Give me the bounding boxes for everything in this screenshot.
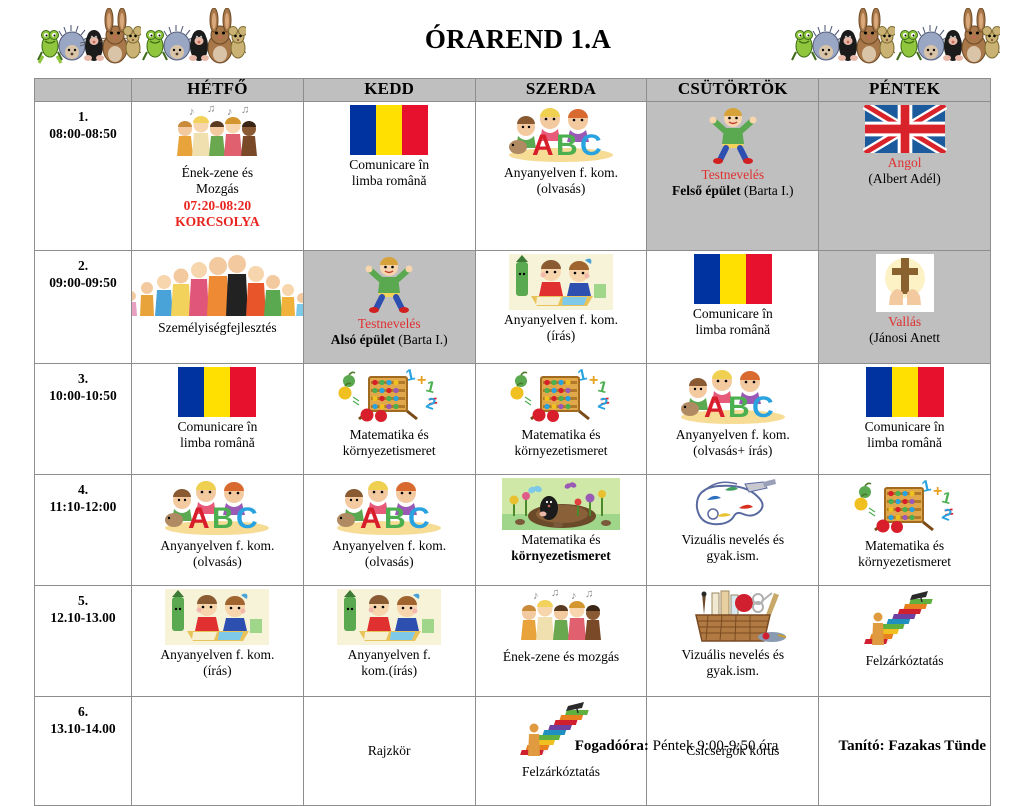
lesson-cell-monday-4[interactable]: A B C Anyanyelven f. kom.(olvasás): [132, 475, 304, 586]
lesson-label-line: Comunicare în: [349, 157, 429, 173]
lesson-illustration: [674, 589, 792, 645]
lesson-label-line: limba română: [693, 322, 773, 338]
lesson-label-line: Anyanyelven f. kom.: [160, 538, 274, 554]
lesson-cell-tuesday-4[interactable]: A B C Anyanyelven f. kom.(olvasás): [303, 475, 475, 586]
lesson-illustration: [178, 367, 256, 417]
lesson-illustration: [876, 254, 934, 312]
lesson-label-line: (Albert Adél): [868, 171, 940, 187]
children-writing-icon: [509, 254, 613, 310]
lesson-cell-content: A B C Anyanyelven f. kom.(olvasás): [132, 475, 303, 585]
animal-border-clipart-left: [36, 8, 246, 70]
lesson-label-line: (Jánosi Anett: [869, 330, 940, 346]
lesson-cell-content: Anyanyelven f. kom.(írás): [132, 586, 303, 696]
lesson-label: Vizuális nevelés ésgyak.ism.: [681, 647, 784, 680]
lesson-label-line: környezetismeret: [511, 548, 610, 564]
svg-text:B: B: [728, 391, 750, 424]
lesson-label-line: (írás): [160, 663, 274, 679]
children-writing-icon: [337, 589, 441, 645]
lesson-illustration: [863, 105, 947, 153]
lesson-cell-friday-5[interactable]: Felzárkóztatás: [819, 586, 991, 697]
lesson-cell-tuesday-1[interactable]: Comunicare înlimba română: [303, 102, 475, 251]
lesson-label-line: Angol: [868, 155, 940, 171]
lesson-illustration: [862, 589, 948, 651]
lesson-cell-monday-1[interactable]: ♪♫♪♫: [132, 102, 304, 251]
day-header-wednesday: SZERDA: [475, 79, 647, 102]
lesson-illustration: [132, 254, 304, 318]
office-hours-label: Fogadóóra:: [575, 738, 649, 754]
lesson-label: Anyanyelven f. kom.(olvasás): [160, 538, 274, 571]
svg-text:B: B: [212, 502, 234, 535]
lesson-cell-content: TestnevelésAlsó épület (Barta I.): [304, 251, 475, 363]
timetable-row-2: 2.09:00-09:50 Személyiségfejlesztés: [35, 251, 991, 364]
period-number: 2.: [78, 258, 88, 273]
office-hours: Fogadóóra: Péntek 9:00-9:50 óra: [575, 738, 779, 755]
cross-hands-icon: [876, 254, 934, 312]
lesson-label-line: Vizuális nevelés és: [681, 647, 784, 663]
page-header: ÓRAREND 1.A: [0, 0, 1024, 78]
lesson-label: Felzárkóztatás: [522, 764, 600, 780]
period-time: 10:00-10:50: [49, 388, 117, 403]
lesson-illustration: ♪♫♪♫: [513, 589, 609, 647]
lesson-cell-content: TestnevelésFelső épület (Barta I.): [647, 102, 818, 250]
uk-flag-icon: [863, 105, 947, 153]
period-time: 09:00-09:50: [49, 275, 117, 290]
lesson-label-line: Felzárkóztatás: [522, 764, 600, 780]
lesson-cell-friday-1[interactable]: Angol(Albert Adél): [819, 102, 991, 251]
lesson-cell-wednesday-2[interactable]: Anyanyelven f. kom.(írás): [475, 251, 647, 364]
lesson-label-line: Felzárkóztatás: [866, 653, 944, 669]
lesson-label-line: gyak.ism.: [681, 663, 784, 679]
lesson-label: TestnevelésFelső épület (Barta I.): [672, 167, 793, 200]
svg-text:A: A: [532, 129, 554, 162]
lesson-label: Comunicare înlimba română: [865, 419, 945, 452]
lesson-illustration: [866, 367, 944, 417]
lesson-label-line: Anyanyelven f. kom.: [160, 647, 274, 663]
lesson-cell-wednesday-1[interactable]: A B C Anyanyelven f. kom.(olvasás): [475, 102, 647, 251]
lesson-label-line: Ének-zene és: [175, 165, 260, 181]
lesson-cell-content: Angol(Albert Adél): [819, 102, 990, 250]
romania-flag-icon: [866, 367, 944, 417]
timetable-row-3: 3.10:00-10:50 Comunicare înlimba română …: [35, 364, 991, 475]
lesson-cell-friday-3[interactable]: Comunicare înlimba română: [819, 364, 991, 475]
jumping-child-icon: [358, 254, 420, 314]
day-header-friday: PÉNTEK: [819, 79, 991, 102]
lesson-label: Anyanyelven f. kom.(írás): [160, 647, 274, 680]
lesson-label-line: (olvasás): [332, 554, 446, 570]
lesson-illustration: [694, 254, 772, 304]
lesson-label-line: Matematika és: [511, 532, 610, 548]
period-time: 08:00-08:50: [49, 126, 117, 141]
romania-flag-icon: [178, 367, 256, 417]
period-time-cell-5: 5.12.10-13.00: [35, 586, 132, 697]
lesson-illustration: [165, 589, 269, 645]
lesson-teacher: (Barta I.): [741, 183, 794, 198]
lesson-label-line: 07:20-08:20: [175, 198, 260, 214]
svg-text:♫: ♫: [585, 589, 593, 600]
lesson-label: Anyanyelven f.kom.(írás): [348, 647, 431, 680]
family-group-icon: [132, 254, 304, 318]
lesson-cell-content: Személyiségfejlesztés: [132, 251, 303, 363]
singing-children-icon: ♪♫♪♫: [513, 589, 609, 647]
lesson-illustration: 1 + 1 = 2: [509, 367, 613, 425]
lesson-cell-tuesday-5[interactable]: Anyanyelven f.kom.(írás): [303, 586, 475, 697]
lesson-cell-content: Comunicare înlimba română: [647, 251, 818, 363]
lesson-cell-thursday-3[interactable]: A B C Anyanyelven f. kom.(olvasás+ írás): [647, 364, 819, 475]
lesson-label: Ének-zene ésMozgás07:20-08:20KORCSOLYA: [175, 165, 260, 231]
svg-text:♪: ♪: [227, 106, 233, 118]
period-number: 1.: [78, 109, 88, 124]
singing-children-icon: ♪♫♪♫: [169, 105, 265, 163]
lesson-cell-content: Comunicare înlimba română: [819, 364, 990, 474]
lesson-label: Matematika éskörnyezetismeret: [511, 532, 610, 565]
lesson-illustration: [358, 254, 420, 314]
lesson-label-line: KORCSOLYA: [175, 214, 260, 230]
lesson-label: Anyanyelven f. kom.(olvasás): [332, 538, 446, 571]
period-time: 13.10-14.00: [50, 721, 115, 736]
svg-text:C: C: [752, 391, 774, 424]
lesson-label-line: Matematika és: [343, 427, 436, 443]
svg-text:+: +: [589, 372, 598, 389]
lesson-cell-content: Felzárkóztatás: [819, 586, 990, 696]
lesson-building: Felső épület: [672, 183, 741, 198]
lesson-label: Matematika éskörnyezetismeret: [343, 427, 436, 460]
svg-text:C: C: [236, 502, 258, 535]
lesson-cell-tuesday-3[interactable]: 1 + 1 = 2: [303, 364, 475, 475]
lesson-label: Angol(Albert Adél): [868, 155, 940, 188]
lesson-label: Anyanyelven f. kom.(olvasás): [504, 165, 618, 198]
period-time-cell-3: 3.10:00-10:50: [35, 364, 132, 475]
animal-group-icon: [895, 8, 1000, 70]
lesson-illustration: [502, 478, 620, 530]
lesson-label-line: környezetismeret: [858, 554, 951, 570]
animal-group-icon: [141, 8, 246, 70]
period-time-cell-2: 2.09:00-09:50: [35, 251, 132, 364]
lesson-label-line: Comunicare în: [177, 419, 257, 435]
timetable-page: ÓRAREND 1.A: [0, 0, 1024, 791]
lesson-teacher: (Barta I.): [395, 332, 448, 347]
lesson-cell-content: Vizuális nevelés ésgyak.ism.: [647, 475, 818, 585]
svg-text:♫: ♫: [551, 589, 559, 599]
lesson-label-line: Anyanyelven f. kom.: [504, 312, 618, 328]
lesson-illustration: [337, 589, 441, 645]
lesson-label-line: környezetismeret: [515, 443, 608, 459]
lesson-label: Comunicare înlimba română: [693, 306, 773, 339]
page-title: ÓRAREND 1.A: [425, 24, 611, 55]
svg-text:A: A: [188, 502, 210, 535]
lesson-label-line: (olvasás+ írás): [676, 443, 790, 459]
teacher-name: Tanító: Fazakas Tünde: [838, 738, 986, 755]
abacus-icon: 1 + 1 = 2: [337, 367, 441, 425]
lesson-label-line: Testnevelés: [672, 167, 793, 183]
lesson-cell-friday-4[interactable]: 1 + 1 = 2: [819, 475, 991, 586]
abc-children-icon: A B C: [330, 478, 448, 536]
svg-text:♪: ♪: [189, 106, 195, 118]
lesson-cell-thursday-2[interactable]: Comunicare înlimba română: [647, 251, 819, 364]
svg-text:+: +: [417, 372, 426, 389]
lesson-label-line: Anyanyelven f. kom.: [332, 538, 446, 554]
lesson-cell-wednesday-4[interactable]: Matematika éskörnyezetismeret: [475, 475, 647, 586]
lesson-cell-content: Comunicare înlimba română: [304, 102, 475, 250]
children-writing-icon: [165, 589, 269, 645]
lesson-label-line: (olvasás): [160, 554, 274, 570]
office-hours-value: Péntek 9:00-9:50 óra: [649, 738, 779, 754]
lesson-label: Vizuális nevelés ésgyak.ism.: [681, 532, 784, 565]
abacus-icon: 1 + 1 = 2: [509, 367, 613, 425]
lesson-label-line: Matematika és: [858, 538, 951, 554]
timetable-row-1: 1.08:00-08:50 ♪♫♪♫: [35, 102, 991, 251]
lesson-label-line: Matematika és: [515, 427, 608, 443]
lesson-label: Ének-zene és mozgás: [503, 649, 619, 665]
svg-text:♪: ♪: [533, 590, 539, 602]
lesson-label-line: Mozgás: [175, 181, 260, 197]
lesson-cell-content: Anyanyelven f.kom.(írás): [304, 586, 475, 696]
lesson-cell-content: Matematika éskörnyezetismeret: [476, 475, 647, 585]
romania-flag-icon: [694, 254, 772, 304]
lesson-label-line: Anyanyelven f. kom.: [504, 165, 618, 181]
lesson-label-line: kom.(írás): [348, 663, 431, 679]
svg-text:A: A: [360, 502, 382, 535]
book-stairs-icon: [862, 589, 948, 651]
period-number: 5.: [78, 593, 88, 608]
lesson-label-line: limba română: [865, 435, 945, 451]
lesson-illustration: [509, 254, 613, 310]
lesson-illustration: 1 + 1 = 2: [337, 367, 441, 425]
lesson-cell-content: 1 + 1 = 2: [476, 364, 647, 474]
lesson-label: Személyiségfejlesztés: [158, 320, 276, 336]
svg-text:C: C: [580, 129, 602, 162]
lesson-illustration: ♪♫♪♫: [169, 105, 265, 163]
lesson-label-line: Comunicare în: [865, 419, 945, 435]
abacus-icon: 1 + 1 = 2: [853, 478, 957, 536]
lesson-label-line: limba română: [177, 435, 257, 451]
svg-text:♪: ♪: [571, 590, 577, 602]
animal-border-clipart-right: [790, 8, 1000, 70]
lesson-cell-content: 1 + 1 = 2: [304, 364, 475, 474]
lesson-illustration: A B C: [158, 478, 276, 536]
svg-text:B: B: [384, 502, 406, 535]
lesson-cell-thursday-1[interactable]: TestnevelésFelső épület (Barta I.): [647, 102, 819, 251]
lesson-label-line: gyak.ism.: [681, 548, 784, 564]
craft-basket-icon: [674, 589, 792, 645]
lesson-label: Matematika éskörnyezetismeret: [515, 427, 608, 460]
period-time-cell-1: 1.08:00-08:50: [35, 102, 132, 251]
svg-text:+: +: [933, 483, 942, 500]
lesson-illustration: A B C: [674, 367, 792, 425]
lesson-label: Comunicare înlimba română: [177, 419, 257, 452]
period-number: 6.: [78, 704, 88, 719]
period-time-cell-4: 4.11:10-12:00: [35, 475, 132, 586]
footer: Fogadóóra: Péntek 9:00-9:50 óra Tanító: …: [34, 738, 990, 755]
timetable-body: 1.08:00-08:50 ♪♫♪♫: [35, 102, 991, 806]
corner-cell: [35, 79, 132, 102]
lesson-cell-content: 1 + 1 = 2: [819, 475, 990, 585]
lesson-cell-friday-2[interactable]: Vallás(Jánosi Anett: [819, 251, 991, 364]
lesson-cell-tuesday-2[interactable]: TestnevelésAlsó épület (Barta I.): [303, 251, 475, 364]
lesson-label-line: Vizuális nevelés és: [681, 532, 784, 548]
lesson-label-line: (olvasás): [504, 181, 618, 197]
lesson-label-line: Comunicare în: [693, 306, 773, 322]
lesson-label-line: Ének-zene és mozgás: [503, 649, 619, 665]
lesson-cell-content: ♪♫♪♫: [132, 102, 303, 250]
lesson-label-line: környezetismeret: [343, 443, 436, 459]
jumping-child-icon: [702, 105, 764, 165]
animal-group-icon: [790, 8, 895, 70]
header-row: HÉTFŐ KEDD SZERDA CSÜTÖRTÖK PÉNTEK: [35, 79, 991, 102]
period-number: 4.: [78, 482, 88, 497]
lesson-cell-content: A B C Anyanyelven f. kom.(olvasás): [476, 102, 647, 250]
svg-text:A: A: [704, 391, 726, 424]
lesson-cell-wednesday-5[interactable]: ♪♫♪♫: [475, 586, 647, 697]
romania-flag-icon: [350, 105, 428, 155]
lesson-illustration: [350, 105, 428, 155]
svg-text:♫: ♫: [207, 105, 215, 115]
lesson-label: Felzárkóztatás: [866, 653, 944, 669]
lesson-label-line: (írás): [504, 328, 618, 344]
day-header-monday: HÉTFŐ: [132, 79, 304, 102]
lesson-label-line: Anyanyelven f.: [348, 647, 431, 663]
lesson-label-line: Személyiségfejlesztés: [158, 320, 276, 336]
lesson-label: Matematika éskörnyezetismeret: [858, 538, 951, 571]
lesson-label-line: Anyanyelven f. kom.: [676, 427, 790, 443]
lesson-label: Vallás(Jánosi Anett: [869, 314, 940, 347]
lesson-illustration: [702, 105, 764, 165]
timetable-grid: HÉTFŐ KEDD SZERDA CSÜTÖRTÖK PÉNTEK 1.08:…: [34, 78, 991, 806]
lesson-cell-wednesday-3[interactable]: 1 + 1 = 2: [475, 364, 647, 475]
lesson-label: Anyanyelven f. kom.(írás): [504, 312, 618, 345]
lesson-illustration: [683, 478, 783, 530]
period-time: 12.10-13.00: [50, 610, 115, 625]
svg-text:B: B: [556, 129, 578, 162]
lesson-illustration: 1 + 1 = 2: [853, 478, 957, 536]
timetable-row-5: 5.12.10-13.00: [35, 586, 991, 697]
period-time: 11:10-12:00: [50, 499, 117, 514]
paint-palette-icon: [683, 478, 783, 530]
timetable-row-4: 4.11:10-12:00 A B C Anyanyelven f. kom.(…: [35, 475, 991, 586]
lesson-label-line: Vallás: [869, 314, 940, 330]
svg-text:C: C: [408, 502, 430, 535]
lesson-cell-content: A B C Anyanyelven f. kom.(olvasás+ írás): [647, 364, 818, 474]
lesson-cell-monday-5[interactable]: Anyanyelven f. kom.(írás): [132, 586, 304, 697]
lesson-cell-monday-2[interactable]: Személyiségfejlesztés: [132, 251, 304, 364]
lesson-label-line: Felső épület (Barta I.): [672, 183, 793, 199]
lesson-label-line: limba română: [349, 173, 429, 189]
lesson-illustration: A B C: [502, 105, 620, 163]
period-number: 3.: [78, 371, 88, 386]
lesson-illustration: A B C: [330, 478, 448, 536]
lesson-cell-monday-3[interactable]: Comunicare înlimba română: [132, 364, 304, 475]
lesson-label-line: Alsó épület (Barta I.): [331, 332, 448, 348]
abc-children-icon: A B C: [502, 105, 620, 163]
animal-group-icon: [36, 8, 141, 70]
day-header-thursday: CSÜTÖRTÖK: [647, 79, 819, 102]
day-header-tuesday: KEDD: [303, 79, 475, 102]
mole-garden-icon: [502, 478, 620, 530]
lesson-cell-thursday-4[interactable]: Vizuális nevelés ésgyak.ism.: [647, 475, 819, 586]
lesson-cell-content: Vallás(Jánosi Anett: [819, 251, 990, 363]
lesson-cell-thursday-5[interactable]: Vizuális nevelés ésgyak.ism.: [647, 586, 819, 697]
lesson-label-line: Testnevelés: [331, 316, 448, 332]
lesson-cell-content: A B C Anyanyelven f. kom.(olvasás): [304, 475, 475, 585]
lesson-label: Anyanyelven f. kom.(olvasás+ írás): [676, 427, 790, 460]
abc-children-icon: A B C: [674, 367, 792, 425]
lesson-building: Alsó épület: [331, 332, 395, 347]
lesson-label: TestnevelésAlsó épület (Barta I.): [331, 316, 448, 349]
svg-text:♫: ♫: [241, 105, 249, 116]
lesson-cell-content: ♪♫♪♫: [476, 586, 647, 696]
lesson-cell-content: Anyanyelven f. kom.(írás): [476, 251, 647, 363]
lesson-cell-content: Vizuális nevelés ésgyak.ism.: [647, 586, 818, 696]
lesson-label: Comunicare înlimba română: [349, 157, 429, 190]
abc-children-icon: A B C: [158, 478, 276, 536]
lesson-cell-content: Comunicare înlimba română: [132, 364, 303, 474]
